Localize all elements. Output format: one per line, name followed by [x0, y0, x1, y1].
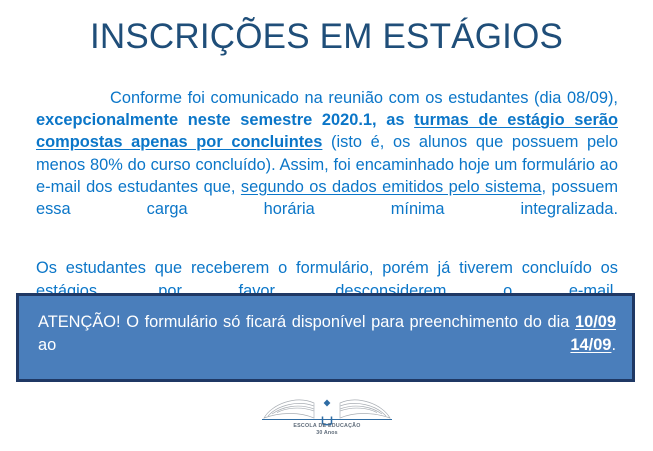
- text-run: ao: [38, 336, 570, 354]
- text-run: segundo os dados emitidos pelo sistema: [241, 178, 542, 196]
- text-run: .: [611, 336, 616, 354]
- text-run: excepcionalmente neste semestre 2020.1, …: [36, 111, 414, 129]
- attention-callout-box: ATENÇÃO! O formulário só ficará disponív…: [16, 293, 635, 382]
- logo-caption-line2: 30 Anos: [252, 430, 402, 437]
- logo-caption: ESCOLA DE EDUCAÇÃO 30 Anos: [252, 423, 402, 436]
- body-text-block: Conforme foi comunicado na reunião com o…: [36, 87, 618, 324]
- logo-caption-line1: ESCOLA DE EDUCAÇÃO: [252, 423, 402, 430]
- text-run: 10/09: [575, 313, 616, 331]
- text-run: 14/09: [570, 336, 611, 354]
- text-run: ATENÇÃO! O formulário só ficará disponív…: [38, 313, 575, 331]
- open-book-icon: [252, 389, 402, 445]
- page-title: INSCRIÇÕES EM ESTÁGIOS: [0, 16, 653, 58]
- footer-logo: ESCOLA DE EDUCAÇÃO 30 Anos: [252, 389, 402, 445]
- text-run: Conforme foi comunicado na reunião com o…: [110, 89, 618, 107]
- attention-callout-text: ATENÇÃO! O formulário só ficará disponív…: [38, 311, 616, 379]
- paragraph-1: Conforme foi comunicado na reunião com o…: [36, 87, 618, 242]
